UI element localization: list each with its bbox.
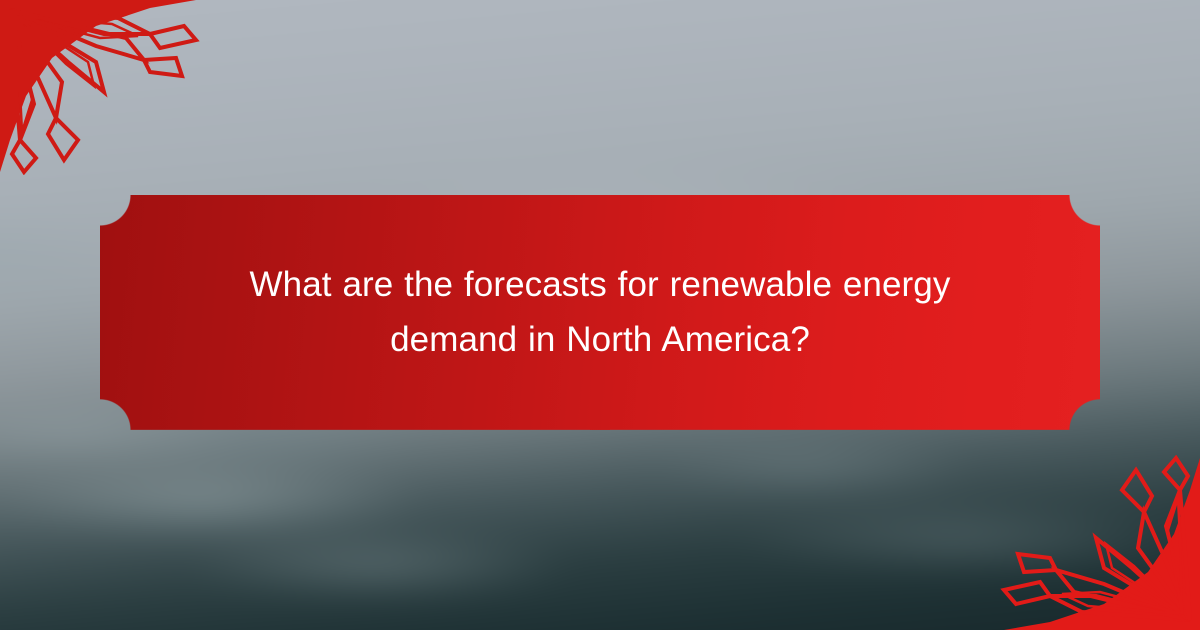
og-card: What are the forecasts for renewable ene…: [0, 0, 1200, 630]
headline-banner: What are the forecasts for renewable ene…: [100, 195, 1100, 430]
page-title: What are the forecasts for renewable ene…: [190, 258, 1010, 367]
